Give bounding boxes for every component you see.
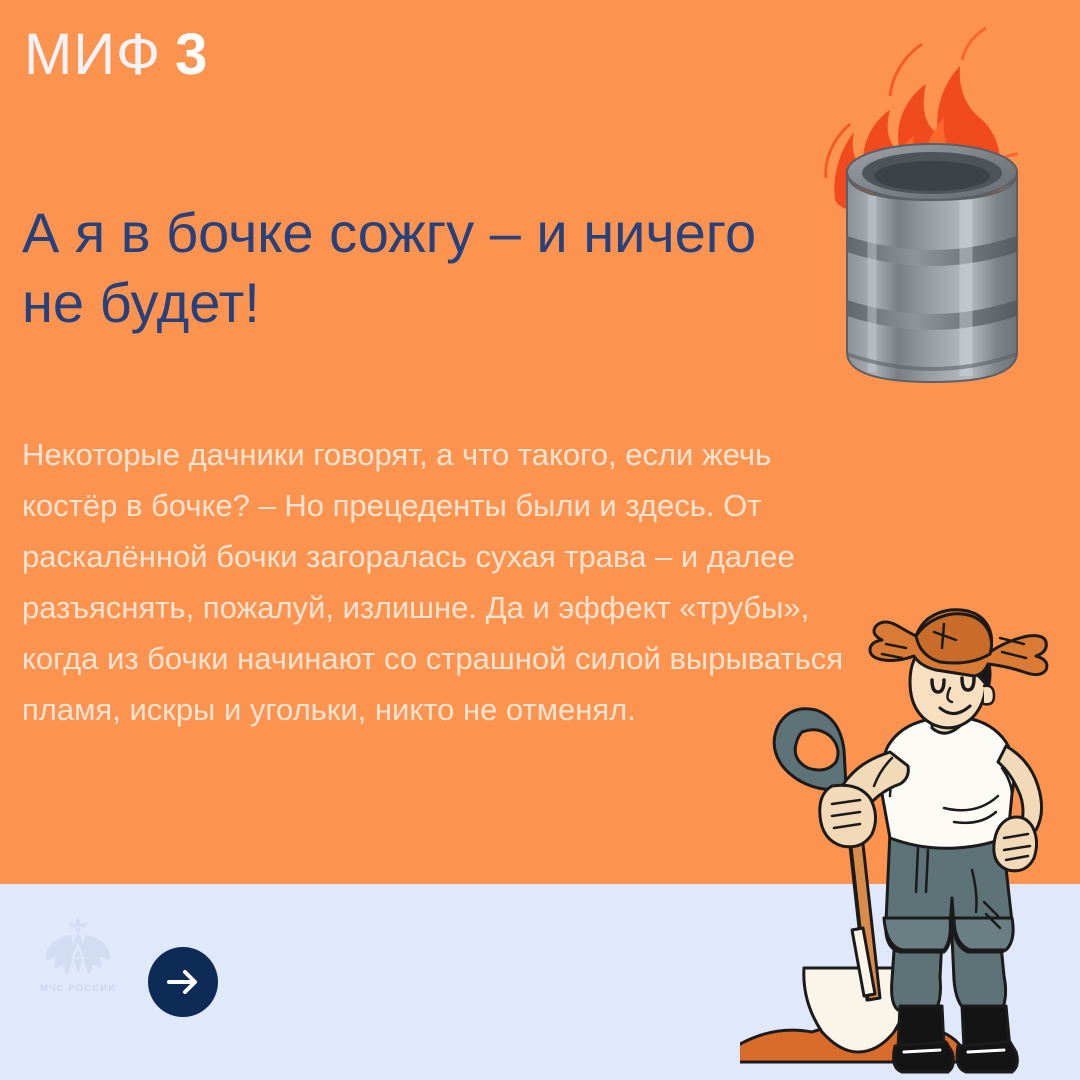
myth-label: МИФ3: [24, 24, 208, 86]
straw-hat-icon: [870, 610, 1047, 676]
barrel-icon: [847, 144, 1017, 382]
next-button[interactable]: [148, 947, 218, 1017]
body-text: Некоторые дачники говорят, а что такого,…: [22, 429, 852, 735]
mchs-logo: МЧС РОССИИ: [24, 915, 132, 994]
arrow-right-icon: [165, 965, 201, 999]
infographic-card: МИФ3 А я в бочке сожгу – и ничего не буд…: [0, 0, 1080, 1080]
left-hand: [820, 785, 876, 847]
right-hand: [994, 817, 1037, 871]
myth-number: 3: [175, 22, 208, 87]
burning-barrel-illustration: [780, 0, 1080, 400]
mchs-eagle-emblem: [41, 915, 115, 981]
page-title: А я в бочке сожгу – и ничего не будет!: [22, 198, 782, 338]
myth-word: МИФ: [24, 22, 161, 87]
logo-caption: МЧС РОССИИ: [24, 983, 132, 994]
